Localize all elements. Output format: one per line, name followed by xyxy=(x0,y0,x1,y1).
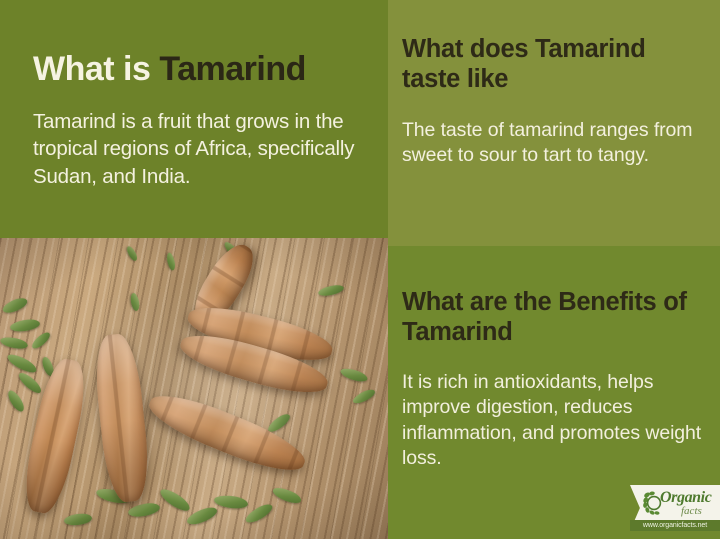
what-is-heading: What is Tamarind xyxy=(33,50,306,89)
panel-taste: What does Tamarind taste like The taste … xyxy=(388,0,720,246)
leaf xyxy=(243,501,274,526)
leaf xyxy=(166,252,177,271)
leaf xyxy=(16,370,43,396)
infographic-canvas: What is Tamarind Tamarind is a fruit tha… xyxy=(0,0,720,539)
leaf xyxy=(5,388,26,414)
leaf xyxy=(158,486,193,515)
what-is-heading-lead: What is xyxy=(33,50,159,88)
leaf xyxy=(125,245,139,262)
benefits-heading: What are the Benefits of Tamarind xyxy=(402,287,717,347)
logo-url: www.organicfacts.net xyxy=(630,520,720,531)
leaf xyxy=(127,501,161,518)
wood-background xyxy=(0,238,388,539)
leaf xyxy=(339,366,369,384)
logo-subword: facts xyxy=(681,505,702,517)
leaf xyxy=(0,335,29,351)
leaf xyxy=(213,494,248,511)
tamarind-pod xyxy=(143,384,311,481)
panel-what-is-tamarind: What is Tamarind Tamarind is a fruit tha… xyxy=(0,0,388,238)
leaf xyxy=(129,292,140,311)
what-is-heading-accent: Tamarind xyxy=(159,50,306,88)
organic-facts-logo[interactable]: Organic facts www.organicfacts.net xyxy=(630,485,720,531)
benefits-body-text: It is rich in antioxidants, helps improv… xyxy=(402,370,702,471)
leaf xyxy=(64,513,93,527)
tamarind-photo xyxy=(0,238,388,539)
leaf xyxy=(1,296,29,316)
leaf xyxy=(9,318,40,333)
leaf xyxy=(317,283,344,297)
organic-facts-logo[interactable] xyxy=(298,485,388,531)
taste-body-text: The taste of tamarind ranges from sweet … xyxy=(402,118,694,169)
what-is-body-text: Tamarind is a fruit that grows in the tr… xyxy=(33,108,358,190)
tamarind-pod xyxy=(91,332,152,504)
leaf xyxy=(351,387,377,406)
leaf xyxy=(30,330,53,351)
panel-benefits: What are the Benefits of Tamarind It is … xyxy=(388,246,720,539)
taste-heading: What does Tamarind taste like xyxy=(402,35,702,94)
leaf xyxy=(185,504,219,527)
